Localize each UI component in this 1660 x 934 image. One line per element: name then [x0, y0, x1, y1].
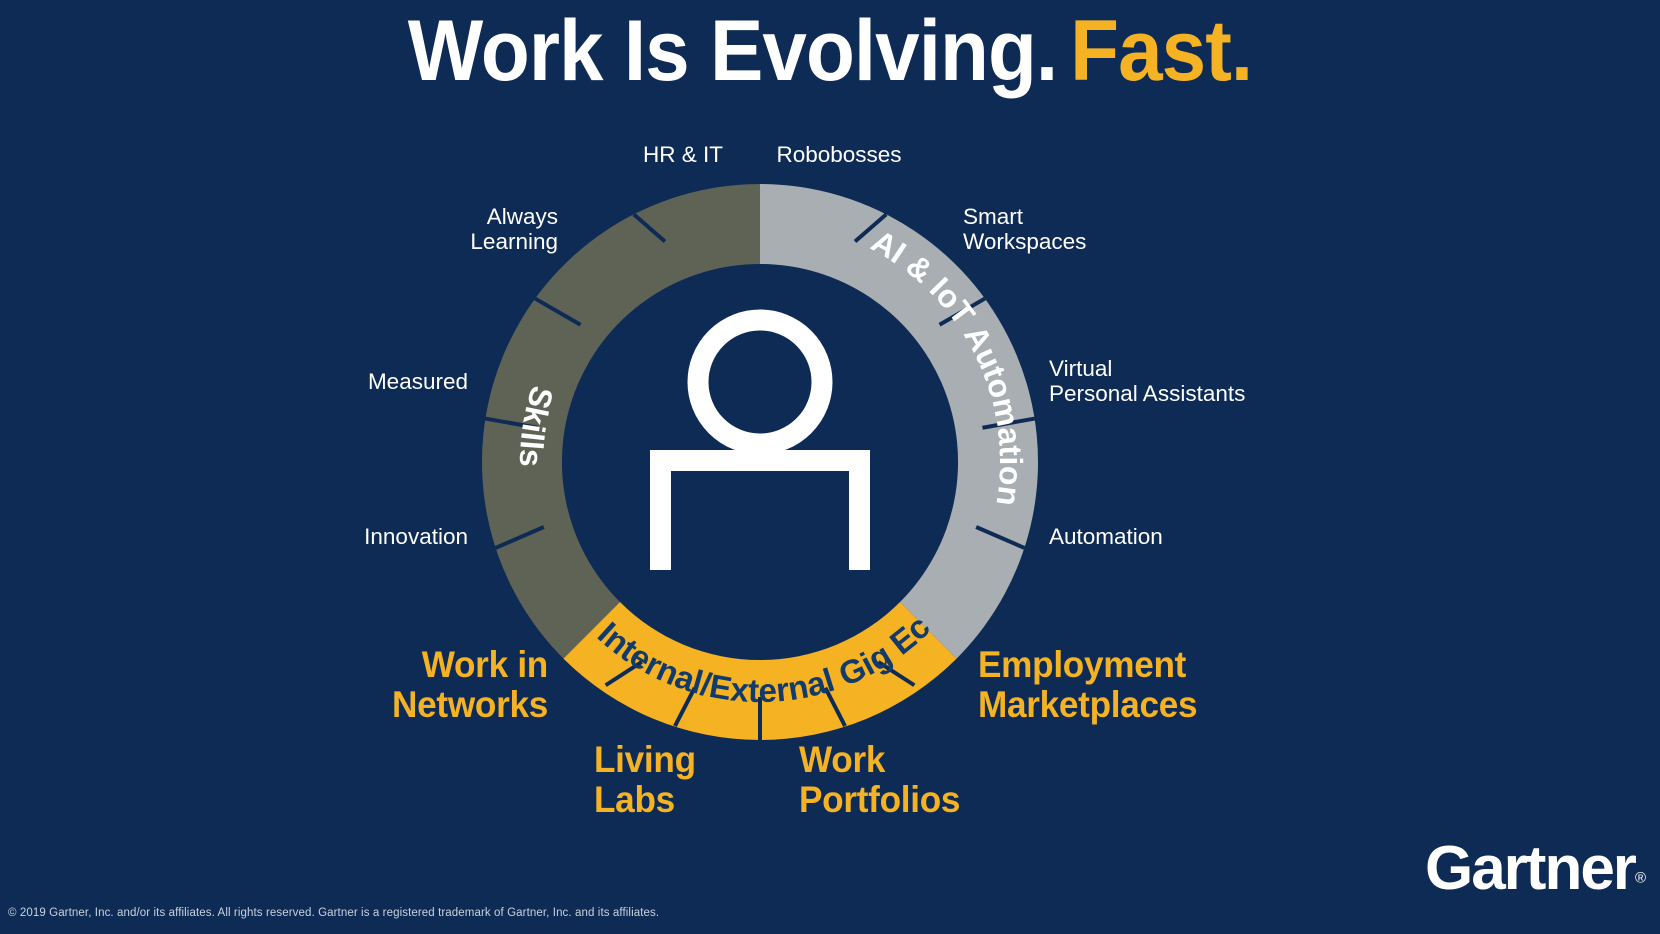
callout-employment-marketplaces: Employment Marketplaces	[978, 645, 1311, 725]
callout-innovation: Innovation	[288, 524, 468, 549]
slide-canvas: Work Is Evolving.Fast.	[0, 0, 1660, 934]
callout-robobosses: Robobosses	[756, 142, 922, 167]
page-title-part1: Work Is Evolving.	[408, 3, 1057, 99]
callout-work-in-networks: Work in Networks	[254, 645, 549, 725]
callout-virtual-personal-assistants: Virtual Personal Assistants	[1049, 356, 1309, 406]
callout-living-labs: Living Labs	[594, 740, 765, 820]
copyright-notice: © 2019 Gartner, Inc. and/or its affiliat…	[8, 907, 659, 919]
gartner-logo: Gartner®	[1425, 838, 1646, 908]
gartner-logo-text: Gartner	[1425, 834, 1635, 903]
callout-smart-workspaces: Smart Workspaces	[963, 204, 1163, 254]
callout-automation: Automation	[1049, 524, 1269, 549]
registered-trademark-mark: ®	[1635, 870, 1646, 887]
person-icon	[640, 300, 880, 570]
callout-always-learning: Always Learning	[378, 204, 558, 254]
callout-work-portfolios: Work Portfolios	[799, 740, 1008, 820]
page-title: Work Is Evolving.Fast.	[58, 6, 1602, 96]
callout-measured: Measured	[288, 369, 468, 394]
page-title-part2: Fast.	[1070, 3, 1252, 99]
callout-hr-it: HR & IT	[600, 142, 766, 167]
